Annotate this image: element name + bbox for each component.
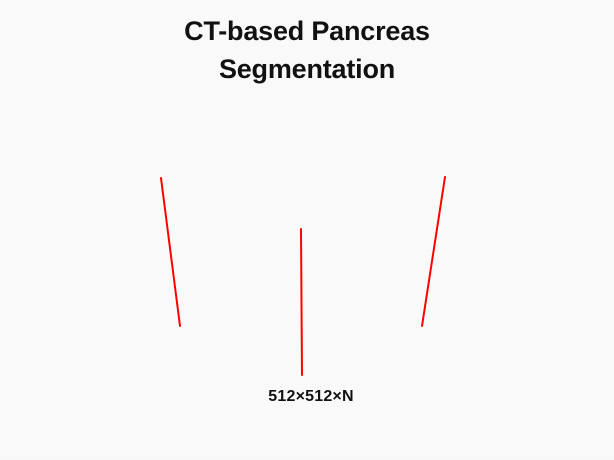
center-stroke	[301, 229, 302, 375]
dimension-label: 512×512×N	[0, 388, 614, 406]
slide-canvas: CT-based Pancreas Segmentation 512×512×N	[0, 0, 614, 460]
left-stroke	[161, 178, 180, 326]
dimension-label-text: 512×512×N	[268, 388, 353, 406]
right-stroke	[422, 177, 445, 326]
